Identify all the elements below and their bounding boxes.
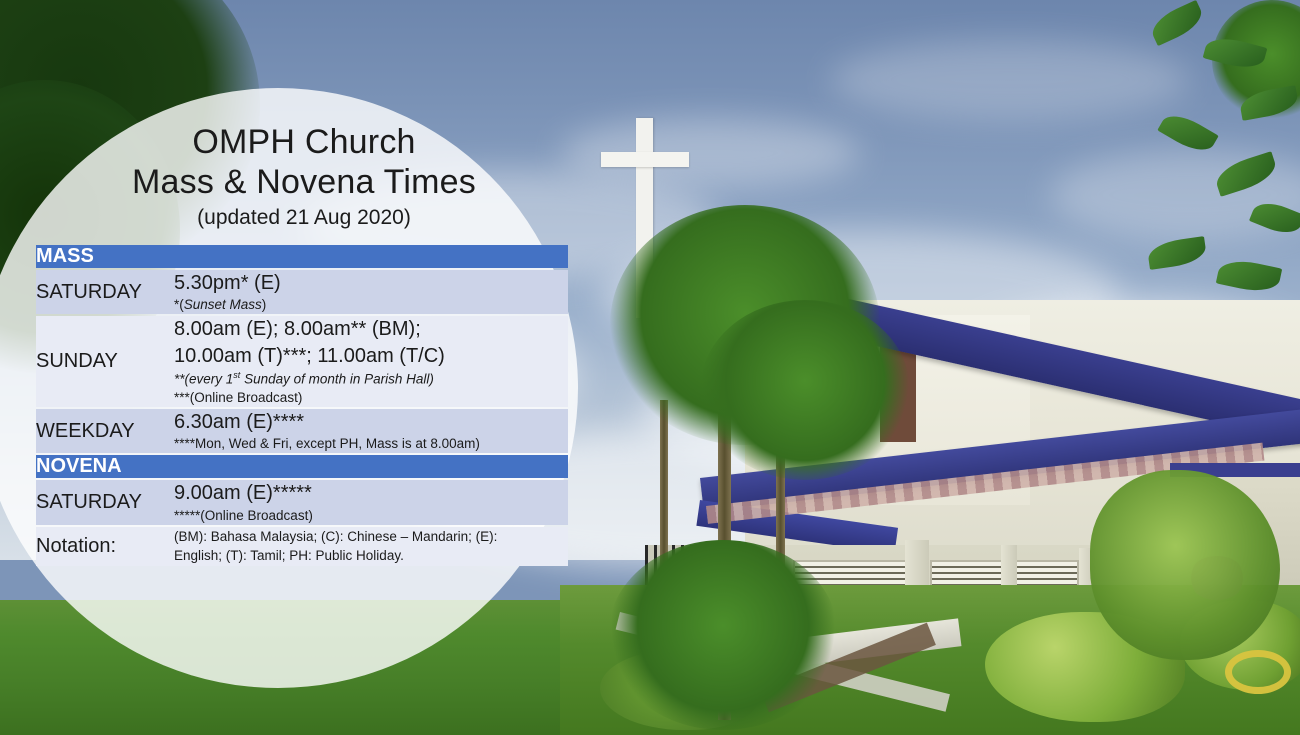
section-label: NOVENA xyxy=(36,455,122,477)
section-value-cell xyxy=(174,455,568,478)
footnote: ***(Online Broadcast) xyxy=(174,389,568,407)
mass-time: 5.30pm* (E) xyxy=(174,270,568,296)
mass-time: 6.30am (E)**** xyxy=(174,409,568,435)
day-label: WEEKDAY xyxy=(36,420,135,442)
table-row-section-novena: NOVENA xyxy=(36,455,568,478)
section-value-cell xyxy=(174,245,568,268)
footnote: ****Mon, Wed & Fri, except PH, Mass is a… xyxy=(174,435,568,453)
table-row-sunday-mass: SUNDAY 8.00am (E); 8.00am** (BM); 10.00a… xyxy=(36,316,568,406)
mass-time: 10.00am (T)***; 11.00am (T/C) xyxy=(174,343,568,369)
updated-date: (updated 21 Aug 2020) xyxy=(36,204,572,232)
day-label-cell: WEEKDAY xyxy=(36,409,172,453)
garden-hose xyxy=(1225,650,1291,694)
mass-time: 8.00am (E); 8.00am** (BM); xyxy=(174,316,568,342)
notation-label-cell: Notation: xyxy=(36,527,172,566)
times-cell: 9.00am (E)***** *****(Online Broadcast) xyxy=(174,480,568,524)
day-label: SATURDAY xyxy=(36,281,142,303)
footnote: *(Sunset Mass) xyxy=(174,296,568,314)
table-row-weekday-mass: WEEKDAY 6.30am (E)**** ****Mon, Wed & Fr… xyxy=(36,409,568,453)
table-row-saturday-mass: SATURDAY 5.30pm* (E) *(Sunset Mass) xyxy=(36,270,568,314)
day-label-cell: SATURDAY xyxy=(36,480,172,524)
table-row-saturday-novena: SATURDAY 9.00am (E)***** *****(Online Br… xyxy=(36,480,568,524)
day-label: SUNDAY xyxy=(36,350,118,372)
cloud xyxy=(830,40,1190,120)
table-row-notation: Notation: (BM): Bahasa Malaysia; (C): Ch… xyxy=(36,527,568,566)
day-label-cell: SUNDAY xyxy=(36,316,172,406)
empty-cell xyxy=(174,248,178,265)
page-subtitle: Mass & Novena Times xyxy=(36,162,572,202)
section-label: MASS xyxy=(36,245,94,267)
slide-canvas: OMPH Church Mass & Novena Times (updated… xyxy=(0,0,1300,735)
table-row-section-mass: MASS xyxy=(36,245,568,268)
times-cell: 6.30am (E)**** ****Mon, Wed & Fri, excep… xyxy=(174,409,568,453)
section-label-cell: NOVENA xyxy=(36,455,172,478)
notation-cell: (BM): Bahasa Malaysia; (C): Chinese – Ma… xyxy=(174,527,568,566)
notation-line: (BM): Bahasa Malaysia; (C): Chinese – Ma… xyxy=(174,527,568,547)
page-title: OMPH Church xyxy=(36,122,572,162)
cross-arm xyxy=(601,152,689,167)
day-label: SATURDAY xyxy=(36,491,142,513)
notation-line: English; (T): Tamil; PH: Public Holiday. xyxy=(174,546,568,566)
novena-time: 9.00am (E)***** xyxy=(174,480,568,506)
footnote: **(every 1st Sunday of month in Parish H… xyxy=(174,369,568,389)
footnote: *****(Online Broadcast) xyxy=(174,507,568,525)
palm-crown xyxy=(700,300,910,480)
times-cell: 5.30pm* (E) *(Sunset Mass) xyxy=(174,270,568,314)
empty-cell xyxy=(174,458,178,475)
title-block: OMPH Church Mass & Novena Times (updated… xyxy=(36,122,572,233)
section-label-cell: MASS xyxy=(36,245,172,268)
day-label-cell: SATURDAY xyxy=(36,270,172,314)
notation-label: Notation: xyxy=(36,535,116,557)
palm-crown xyxy=(608,540,838,730)
times-cell: 8.00am (E); 8.00am** (BM); 10.00am (T)**… xyxy=(174,316,568,406)
mass-novena-schedule-table: MASS SATURDAY 5.30pm* (E) *(Sunset Mass) xyxy=(36,243,568,568)
